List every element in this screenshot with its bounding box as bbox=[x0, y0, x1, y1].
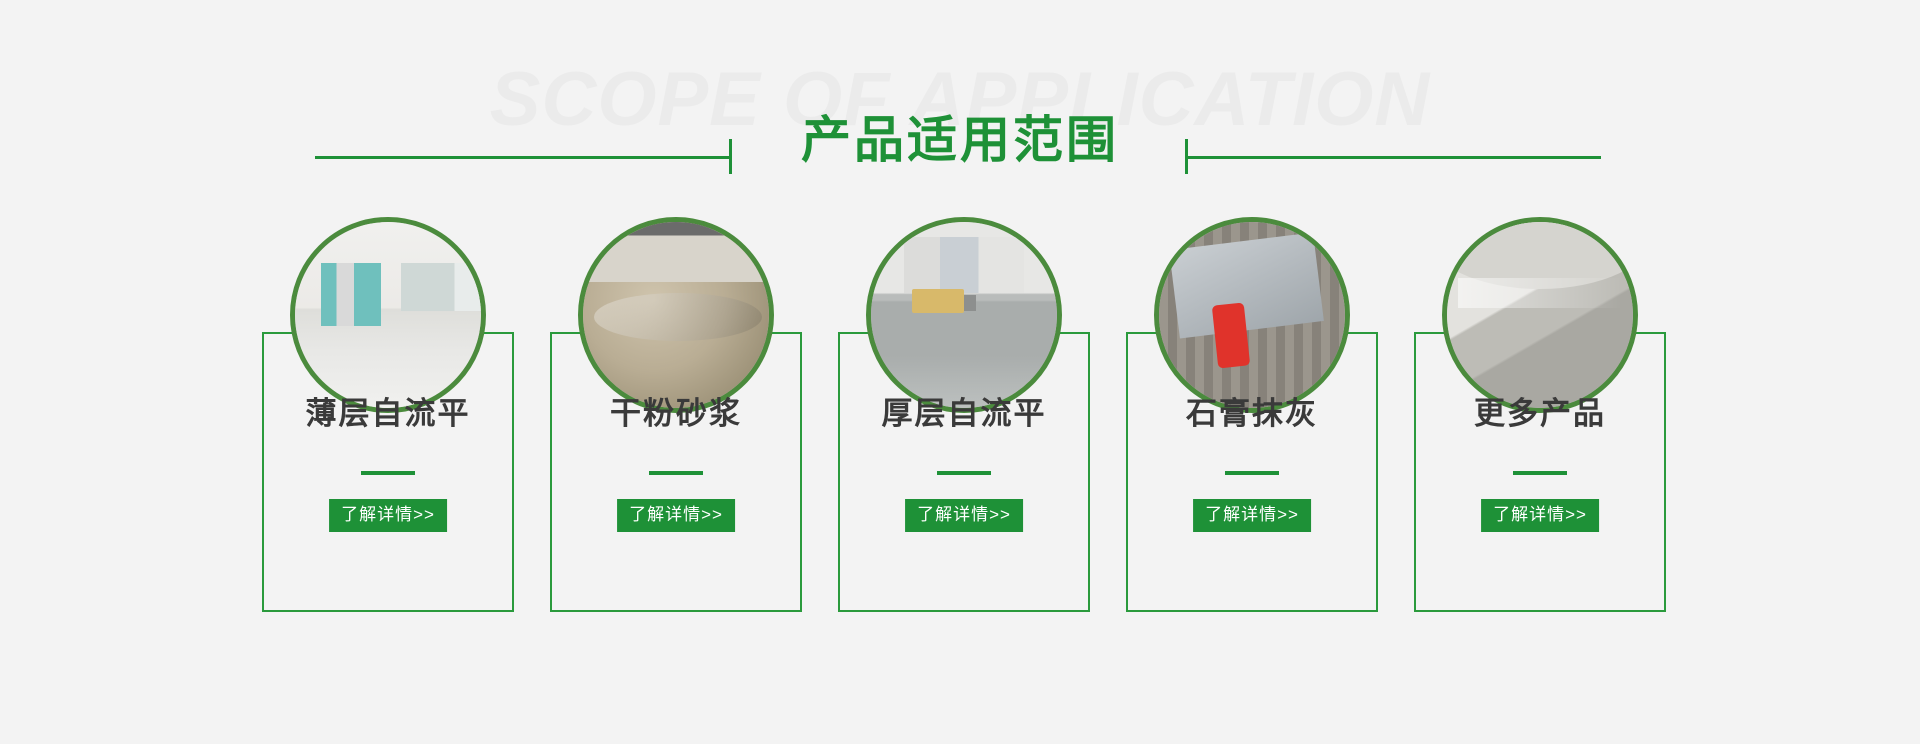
card-divider bbox=[361, 471, 415, 475]
card-title: 薄层自流平 bbox=[262, 394, 514, 434]
card-divider bbox=[1513, 471, 1567, 475]
card-divider bbox=[937, 471, 991, 475]
card-image-circle bbox=[578, 217, 774, 413]
card-divider bbox=[649, 471, 703, 475]
card-title: 石膏抹灰 bbox=[1126, 394, 1378, 434]
application-card-more-products[interactable]: 更多产品 了解详情>> bbox=[1414, 332, 1666, 612]
learn-more-button[interactable]: 了解详情>> bbox=[1481, 499, 1599, 532]
card-title: 干粉砂浆 bbox=[550, 394, 802, 434]
thick-layer-self-leveling-floor-photo bbox=[871, 222, 1057, 408]
learn-more-button[interactable]: 了解详情>> bbox=[1193, 499, 1311, 532]
card-image-circle bbox=[1154, 217, 1350, 413]
dry-powder-mortar-photo bbox=[583, 222, 769, 408]
learn-more-button[interactable]: 了解详情>> bbox=[905, 499, 1023, 532]
card-title: 更多产品 bbox=[1414, 394, 1666, 434]
application-scope-card-list: 薄层自流平 了解详情>> 干粉砂浆 了解详情>> 厚层自流平 了解详情>> 石膏… bbox=[0, 0, 1920, 744]
card-divider bbox=[1225, 471, 1279, 475]
application-card-gypsum-plastering[interactable]: 石膏抹灰 了解详情>> bbox=[1126, 332, 1378, 612]
card-image-circle bbox=[1442, 217, 1638, 413]
learn-more-button[interactable]: 了解详情>> bbox=[329, 499, 447, 532]
gypsum-plastering-trowel-photo bbox=[1159, 222, 1345, 408]
thin-layer-self-leveling-floor-photo bbox=[295, 222, 481, 408]
application-card-thick-layer-self-leveling[interactable]: 厚层自流平 了解详情>> bbox=[838, 332, 1090, 612]
card-title: 厚层自流平 bbox=[838, 394, 1090, 434]
application-card-thin-layer-self-leveling[interactable]: 薄层自流平 了解详情>> bbox=[262, 332, 514, 612]
card-image-circle bbox=[866, 217, 1062, 413]
more-products-photo bbox=[1447, 222, 1633, 408]
learn-more-button[interactable]: 了解详情>> bbox=[617, 499, 735, 532]
card-image-circle bbox=[290, 217, 486, 413]
application-card-dry-powder-mortar[interactable]: 干粉砂浆 了解详情>> bbox=[550, 332, 802, 612]
